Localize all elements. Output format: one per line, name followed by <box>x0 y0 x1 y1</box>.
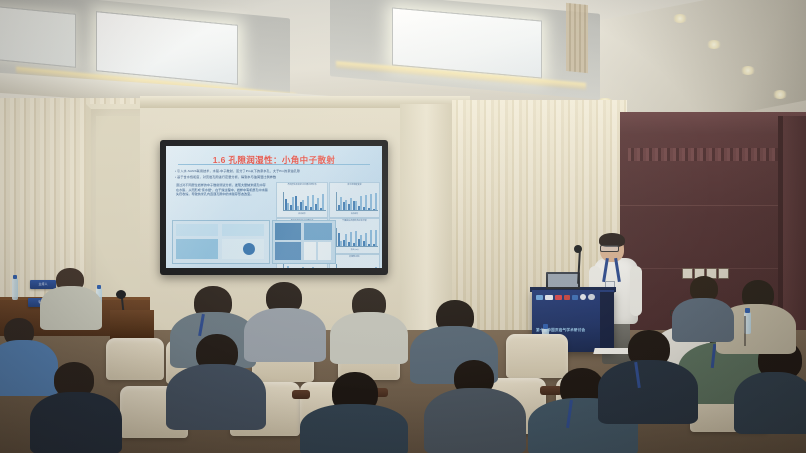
podium-logo-7 <box>588 294 595 300</box>
seat-armrest-2 <box>292 390 310 399</box>
audience-body-6 <box>166 364 266 430</box>
audience-body-1 <box>0 340 58 396</box>
name-placard-1: 主持人 <box>30 280 56 289</box>
podium-side-panel <box>600 292 614 350</box>
podium-microphone-head <box>574 245 582 253</box>
ceiling-downlight-r4 <box>772 90 788 99</box>
audience-body-4 <box>244 308 326 362</box>
wall-switch-1[interactable] <box>682 268 693 279</box>
wall-carved-frieze <box>628 148 778 161</box>
seat-r1-2 <box>106 338 164 380</box>
audience-body-5 <box>330 312 408 364</box>
podium-logo-6 <box>580 294 586 300</box>
podium-logo-2 <box>545 295 553 300</box>
audience-body-7 <box>300 404 408 453</box>
ceiling-light-panel-0 <box>0 2 76 68</box>
screen-glare <box>166 146 382 268</box>
ceiling-downlight-r2 <box>706 40 722 49</box>
speaker-arm-right <box>630 266 642 316</box>
camera-tripod-left <box>744 316 746 346</box>
audience-body-9 <box>424 388 526 453</box>
audience-body-13 <box>598 360 698 424</box>
bottle-cap-audience <box>745 308 750 313</box>
bottle-cap-table-2 <box>97 285 101 289</box>
audience-body-2 <box>30 392 122 453</box>
podium-logo-4 <box>564 295 570 300</box>
gooseneck-microphone-head <box>116 290 126 299</box>
glasses-icon <box>600 245 619 252</box>
audience-body-16 <box>672 298 734 342</box>
bottle-cap-podium <box>543 324 548 329</box>
name-placard-1-text: 主持人 <box>30 280 56 289</box>
ceiling-mosaic-strip <box>566 3 588 73</box>
podium-logo-1 <box>536 295 543 300</box>
podium-logo-3 <box>555 295 562 300</box>
podium-logo-5 <box>572 295 578 300</box>
seat-armrest-4 <box>540 386 562 395</box>
water-bottle-table-1 <box>12 278 18 300</box>
head-table-person-body <box>40 286 102 330</box>
bottle-cap-table-1 <box>13 275 17 279</box>
audience-body-14 <box>734 372 806 434</box>
ceiling-downlight-r1 <box>672 14 688 23</box>
seat-r1-6 <box>506 334 568 378</box>
door-panel[interactable] <box>783 116 806 342</box>
laptop-screen[interactable] <box>548 274 578 287</box>
presentation-screen[interactable]: 1.6 孔隙润湿性：小角中子散射 • 引入水-SANS联用技术，水驱-中子散射，… <box>166 146 382 268</box>
ceiling-downlight-r3 <box>740 66 756 75</box>
papers-on-ledge <box>593 348 630 354</box>
conference-photo: 1.6 孔隙润湿性：小角中子散射 • 引入水-SANS联用技术，水驱-中子散射，… <box>0 0 806 453</box>
podium-front-left <box>110 310 154 340</box>
wall-seam-upper <box>620 205 780 206</box>
wall-switch-4[interactable] <box>718 268 729 279</box>
